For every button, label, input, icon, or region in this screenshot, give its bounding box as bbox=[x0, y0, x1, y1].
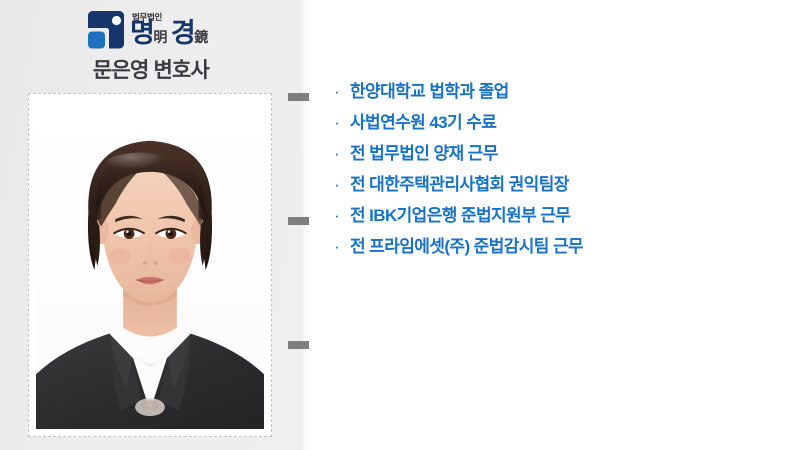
divider-tick-bottom bbox=[288, 341, 309, 349]
firm-logo: 법무법인 명明경鏡 bbox=[86, 8, 226, 54]
list-item: · 전 대한주택관리사협회 권익팀장 bbox=[334, 172, 790, 203]
profile-photo bbox=[36, 101, 264, 429]
law-firm-mark-icon bbox=[86, 11, 126, 50]
divider-tick-middle bbox=[288, 217, 309, 225]
panel-edge-gradient bbox=[302, 0, 314, 450]
bullet-dot-icon: · bbox=[334, 172, 350, 198]
credentials-list: · 한양대학교 법학과 졸업 · 사법연수원 43기 수료 · 전 법무법인 양… bbox=[334, 79, 790, 265]
list-item: · 사법연수원 43기 수료 bbox=[334, 110, 790, 141]
bullet-dot-icon: · bbox=[334, 110, 350, 136]
credential-text: 전 IBK기업은행 준법지원부 근무 bbox=[350, 203, 570, 229]
credential-text: 한양대학교 법학과 졸업 bbox=[350, 79, 509, 105]
firm-logo-text: 법무법인 명明경鏡 bbox=[130, 8, 226, 54]
bullet-dot-icon: · bbox=[334, 234, 350, 260]
credential-text: 사법연수원 43기 수료 bbox=[350, 110, 496, 136]
credential-text: 전 법무법인 양재 근무 bbox=[350, 141, 498, 167]
firm-name-hanja-1: 明 bbox=[153, 29, 167, 45]
firm-name-han-2: 경 bbox=[171, 18, 194, 48]
credential-text: 전 대한주택관리사협회 권익팀장 bbox=[350, 172, 569, 198]
list-item: · 전 프라임에셋(주) 준법감시팀 근무 bbox=[334, 234, 790, 265]
firm-name-label: 명明경鏡 bbox=[130, 20, 208, 47]
credential-text: 전 프라임에셋(주) 준법감시팀 근무 bbox=[350, 234, 583, 260]
firm-name-han-1: 명 bbox=[130, 18, 153, 48]
lawyer-profile-card: 법무법인 명明경鏡 문은영 변호사 bbox=[0, 0, 800, 450]
divider-tick-top bbox=[288, 93, 309, 101]
list-item: · 한양대학교 법학과 졸업 bbox=[334, 79, 790, 110]
profile-photo-frame bbox=[28, 93, 272, 437]
bullet-dot-icon: · bbox=[334, 141, 350, 167]
list-item: · 전 법무법인 양재 근무 bbox=[334, 141, 790, 172]
list-item: · 전 IBK기업은행 준법지원부 근무 bbox=[334, 203, 790, 234]
bullet-dot-icon: · bbox=[334, 203, 350, 229]
right-panel: · 한양대학교 법학과 졸업 · 사법연수원 43기 수료 · 전 법무법인 양… bbox=[314, 0, 800, 450]
firm-name-hanja-2: 鏡 bbox=[194, 29, 208, 45]
lawyer-name-title: 문은영 변호사 bbox=[0, 54, 302, 84]
bullet-dot-icon: · bbox=[334, 79, 350, 105]
